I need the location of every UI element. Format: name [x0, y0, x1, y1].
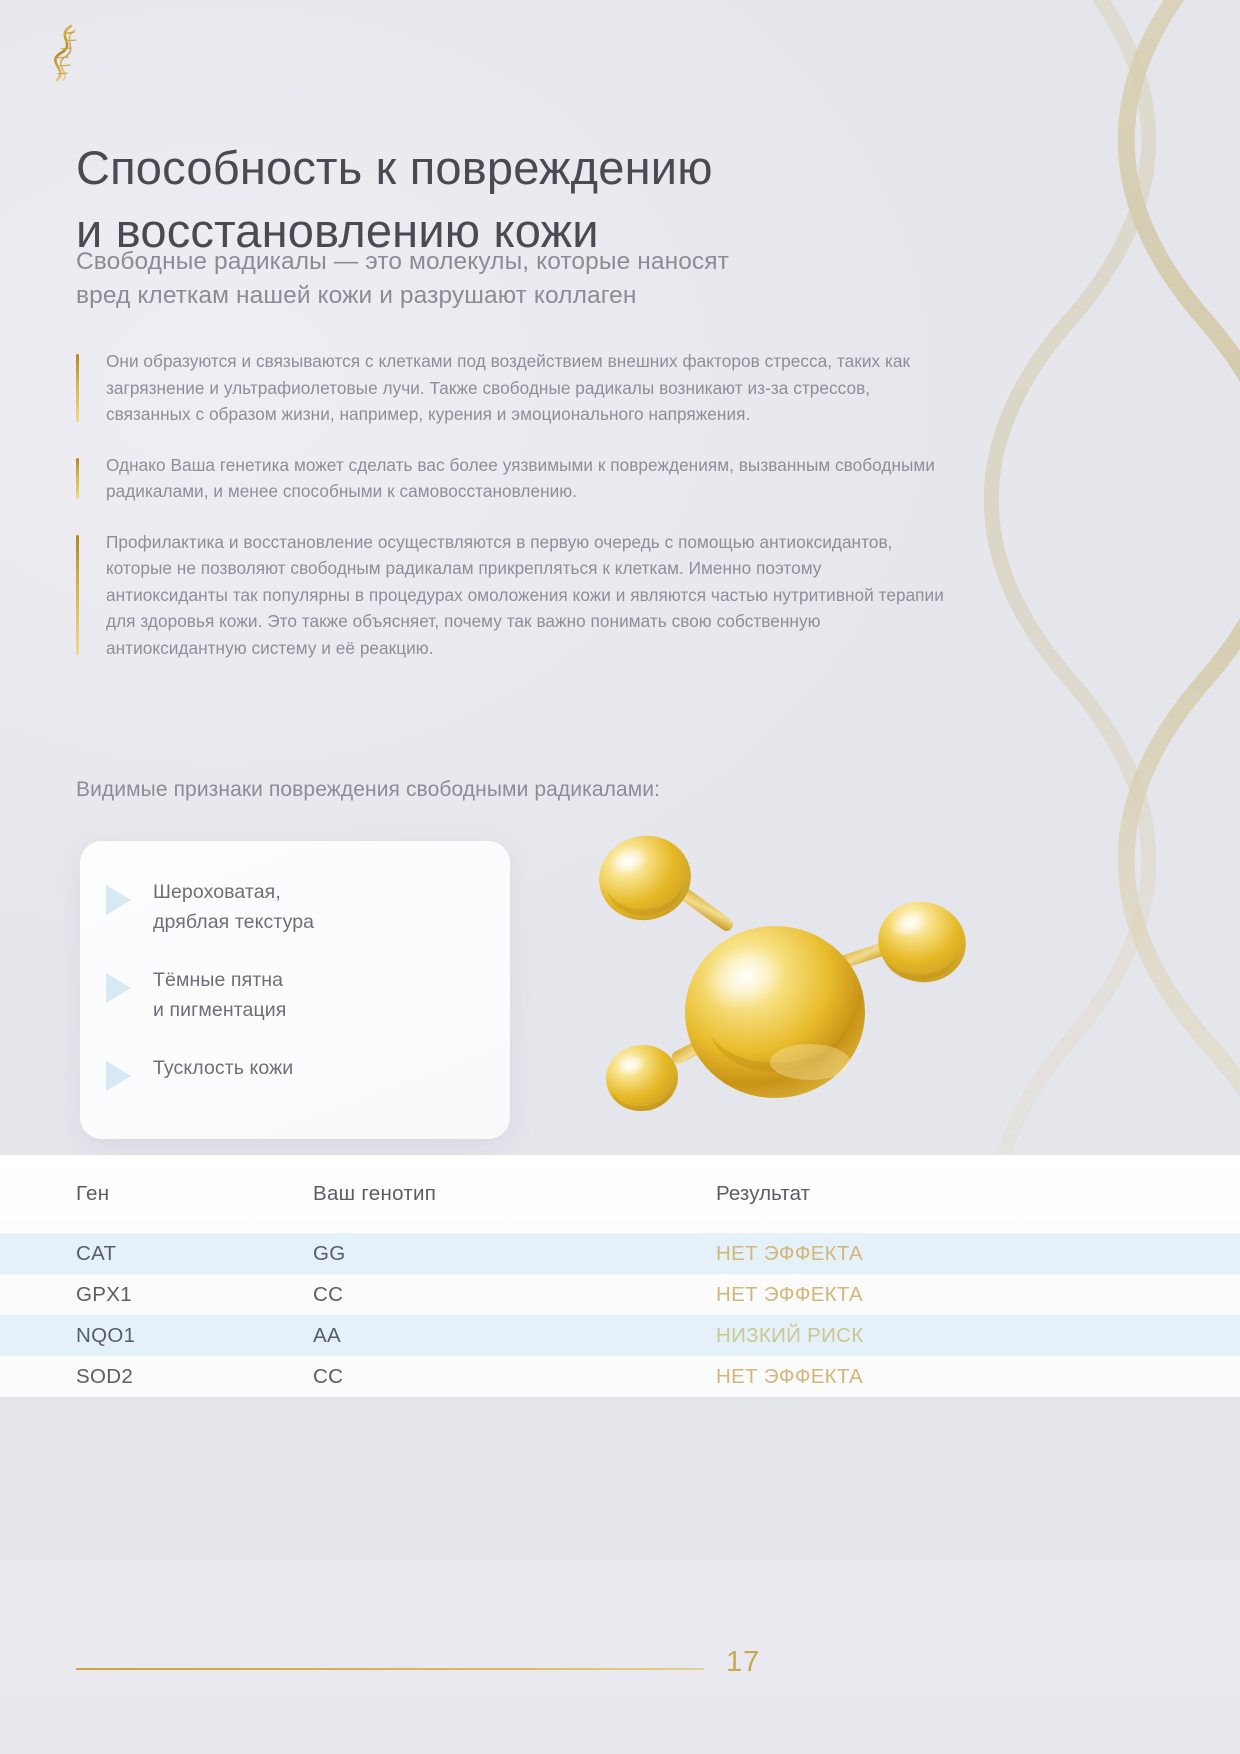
list-item-label: Шероховатая, дряблая текстура: [153, 875, 314, 937]
list-item-line2: дряблая текстура: [153, 911, 314, 933]
list-item: Тёмные пятна и пигментация: [106, 963, 510, 1025]
gold-accent-bar: [76, 458, 79, 499]
gold-molecule-illustration: [560, 830, 990, 1150]
cell-gene: CAT: [0, 1242, 313, 1266]
dna-helix-logo: [44, 22, 88, 84]
table-row: GPX1 CC НЕТ ЭФФЕКТА: [0, 1274, 1240, 1315]
page-footer: 17: [0, 1640, 1240, 1700]
list-item-label: Тусклость кожи: [153, 1051, 293, 1083]
paragraph-text: Они образуются и связываются с клетками …: [106, 348, 946, 428]
list-item: Шероховатая, дряблая текстура: [106, 875, 510, 937]
paragraph-text: Профилактика и восстановление осуществля…: [106, 529, 946, 662]
list-item-label: Тёмные пятна и пигментация: [153, 963, 286, 1025]
cell-gene: SOD2: [0, 1365, 313, 1389]
column-header-result: Результат: [716, 1182, 1240, 1206]
cell-result: НЕТ ЭФФЕКТА: [716, 1283, 1240, 1307]
paragraph-text: Однако Ваша генетика может сделать вас б…: [106, 452, 946, 505]
footer-divider: [76, 1668, 704, 1670]
cell-result: НЕТ ЭФФЕКТА: [716, 1365, 1240, 1389]
column-header-genotype: Ваш генотип: [313, 1182, 716, 1206]
list-item-line2: и пигментация: [153, 999, 286, 1021]
report-page: Способность к повреждению и восстановлен…: [0, 0, 1240, 1754]
gold-accent-bar: [76, 354, 79, 422]
table-row: CAT GG НЕТ ЭФФЕКТА: [0, 1233, 1240, 1274]
cell-genotype: CC: [313, 1283, 716, 1307]
cell-result: НЕТ ЭФФЕКТА: [716, 1242, 1240, 1266]
paragraph-block: Однако Ваша генетика может сделать вас б…: [76, 452, 946, 505]
cell-result: НИЗКИЙ РИСК: [716, 1324, 1240, 1348]
triangle-bullet-icon: [106, 973, 131, 1003]
visible-signs-card: Шероховатая, дряблая текстура Тёмные пят…: [80, 841, 510, 1139]
page-subtitle: Свободные радикалы — это молекулы, котор…: [76, 245, 956, 313]
gold-accent-bar: [76, 535, 79, 656]
visible-signs-heading: Видимые признаки повреждения свободными …: [76, 778, 976, 802]
list-item: Тусклость кожи: [106, 1051, 510, 1091]
page-title: Способность к повреждению и восстановлен…: [76, 136, 956, 262]
page-number: 17: [726, 1646, 760, 1679]
cell-genotype: AA: [313, 1324, 716, 1348]
table-row: SOD2 CC НЕТ ЭФФЕКТА: [0, 1356, 1240, 1397]
cell-genotype: CC: [313, 1365, 716, 1389]
cell-genotype: GG: [313, 1242, 716, 1266]
table-row: NQO1 AA НИЗКИЙ РИСК: [0, 1315, 1240, 1356]
genotype-results-table: Ген Ваш генотип Результат CAT GG НЕТ ЭФФ…: [0, 1155, 1240, 1397]
column-header-gene: Ген: [0, 1182, 313, 1206]
paragraph-blocks: Они образуются и связываются с клетками …: [76, 348, 946, 685]
cell-gene: NQO1: [0, 1324, 313, 1348]
cell-gene: GPX1: [0, 1283, 313, 1307]
paragraph-block: Профилактика и восстановление осуществля…: [76, 529, 946, 662]
triangle-bullet-icon: [106, 885, 131, 915]
list-item-line1: Шероховатая,: [153, 881, 281, 903]
table-header-row: Ген Ваш генотип Результат: [0, 1155, 1240, 1233]
dna-helix-watermark: [950, 0, 1240, 1190]
page-subtitle-line1: Свободные радикалы — это молекулы, котор…: [76, 245, 956, 279]
triangle-bullet-icon: [106, 1061, 131, 1091]
page-subtitle-line2: вред клеткам нашей кожи и разрушают колл…: [76, 279, 956, 313]
paragraph-block: Они образуются и связываются с клетками …: [76, 348, 946, 428]
page-title-line1: Способность к повреждению: [76, 141, 713, 194]
list-item-line1: Тусклость кожи: [153, 1057, 293, 1079]
list-item-line1: Тёмные пятна: [153, 969, 283, 991]
